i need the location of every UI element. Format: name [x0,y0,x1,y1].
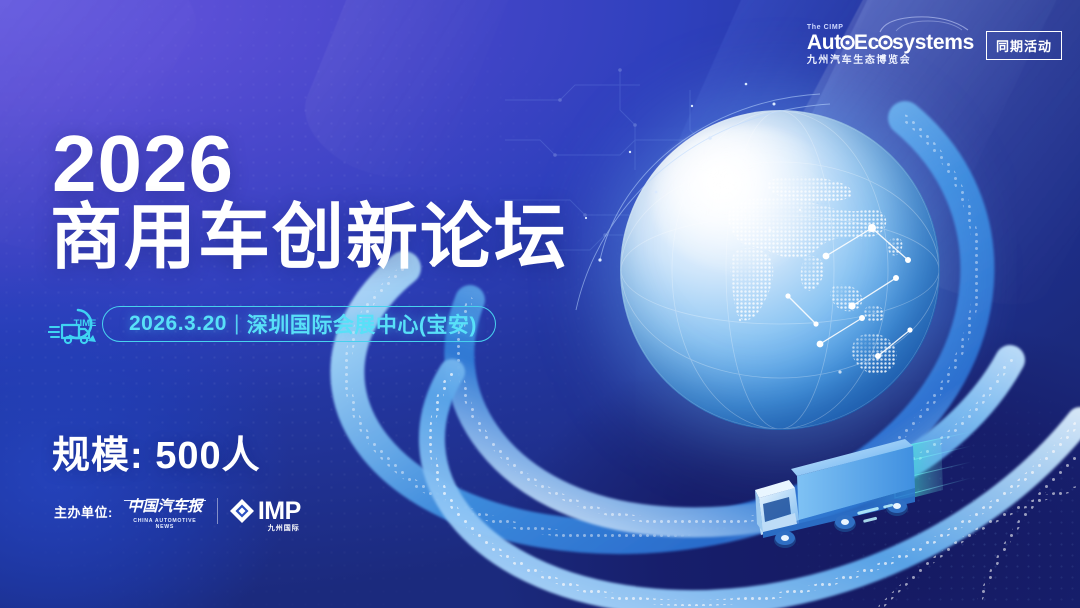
event-date: 2026.3.20 [129,312,227,336]
event-venue: 深圳国际会展中心(宝安) [247,309,477,339]
date-venue-pill: 2026.3.20 | 深圳国际会展中心(宝安) [102,306,496,342]
organizers-row: 主办单位: · · · · · 中国汽车报 CHINA AUTOMOTIVE N… [54,494,301,528]
semi-truck-icon [745,420,995,595]
cimp-logo: IMP 九州国际 [229,498,301,524]
organizer-divider [217,498,218,524]
diamond-c-icon [229,498,255,524]
ring-o-icon [878,33,893,48]
autoecosystems-logo: The CIMP Aut Ec systems 九州汽车生态博览会 [807,24,974,66]
organizer-name-en: CHINA AUTOMOTIVE NEWS [124,518,206,530]
page-title: 商用车创新论坛 [50,202,568,274]
time-label: TIME [74,318,97,329]
china-automotive-news-logo: · · · · · 中国汽车报 CHINA AUTOMOTIVE NEWS [124,494,206,528]
brand-name-part1: Aut [807,31,841,54]
brand-subtitle-cn: 九州汽车生态博览会 [807,56,974,66]
meta-separator: | [234,312,240,336]
organizer-name-cn: 中国汽车报 [124,500,206,515]
brand-logo: The CIMP Aut Ec systems 九州汽车生态博览会 同期活动 [807,24,1062,66]
time-truck-icon: TIME [48,300,116,348]
particle-field-decoration [560,60,1040,420]
event-banner: The CIMP Aut Ec systems 九州汽车生态博览会 同期活动 2… [0,0,1080,608]
event-year: 2026 [52,124,234,204]
cimp-subtitle-cn: 九州国际 [268,523,300,533]
main-content: 2026 商用车创新论坛 TIME [52,0,612,608]
organizer-label: 主办单位: [54,502,113,521]
event-scale: 规模: 500人 [52,424,261,479]
ring-o-icon [840,33,855,48]
car-outline-icon [876,15,972,35]
brand-name: Aut Ec systems [807,32,974,53]
cimp-text: IMP [258,499,301,524]
event-meta-row: TIME 2026.3.20 | 深圳国际会展中心(宝安) [48,300,496,348]
concurrent-event-badge: 同期活动 [986,31,1062,60]
